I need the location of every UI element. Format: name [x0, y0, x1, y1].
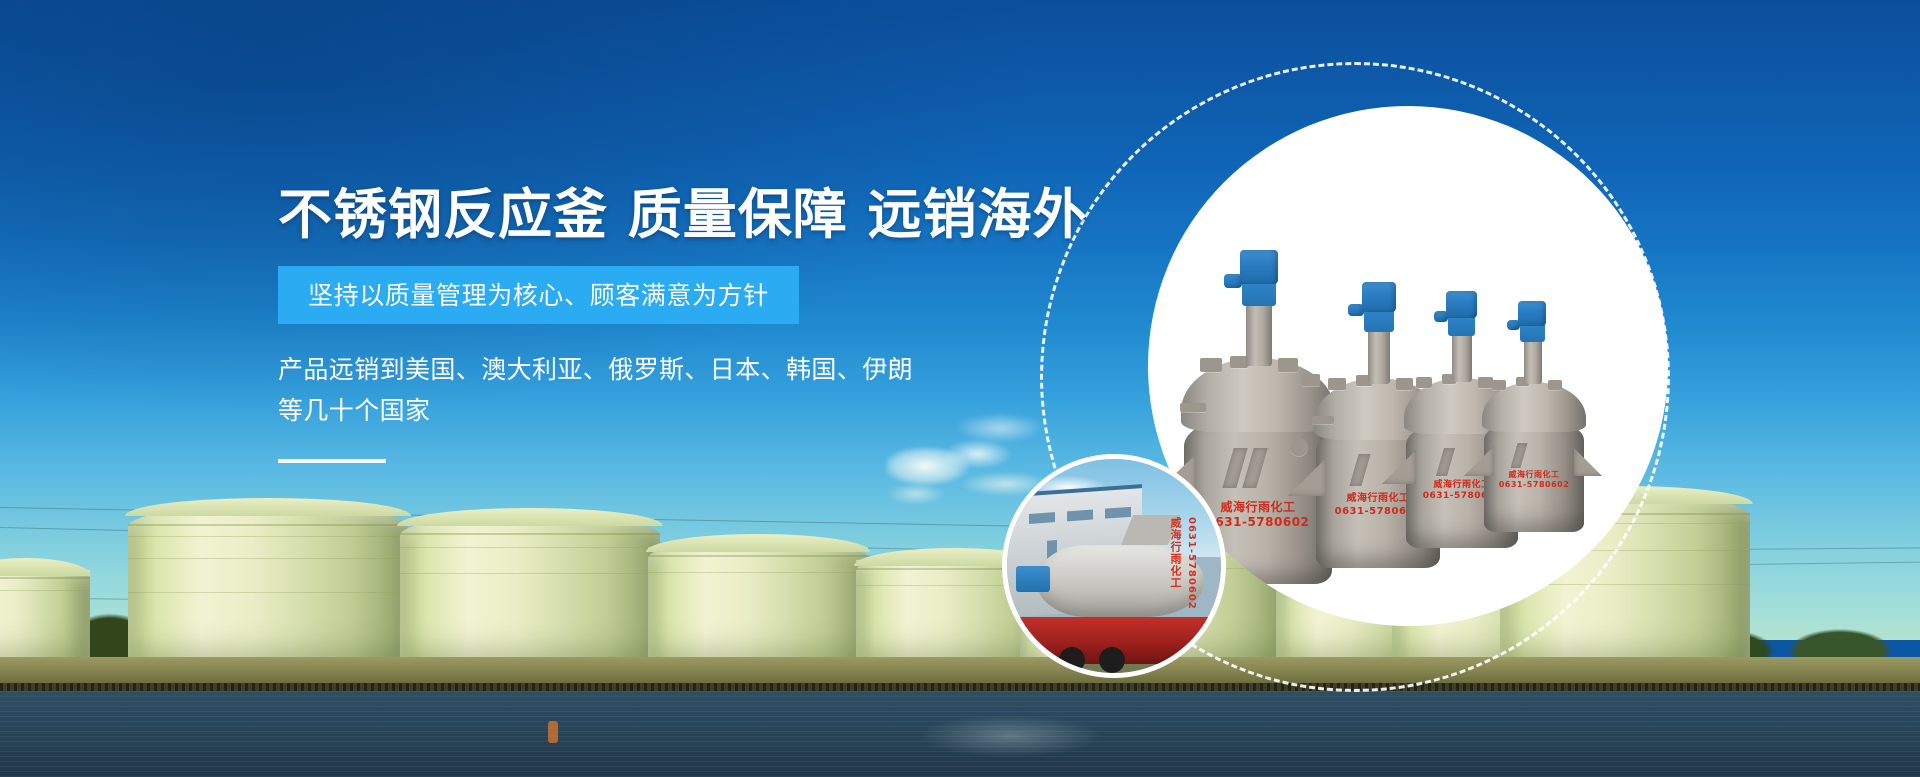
promo-banner: 威海行雨化工 0631-5780602: [0, 0, 1920, 777]
product-image-circle: 威海行雨化工 0631-5780602: [1148, 106, 1668, 626]
tagline-text: 坚持以质量管理为核心、顾客满意为方针: [308, 276, 769, 312]
truck-wheel: [1099, 647, 1125, 673]
tagline-badge: 坚持以质量管理为核心、顾客满意为方针: [278, 266, 799, 324]
storage-tank: [648, 541, 868, 661]
banner-copy: 不锈钢反应釜 质量保障 远销海外 坚持以质量管理为核心、顾客满意为方针 产品远销…: [278, 186, 1038, 463]
vessel-phone-text: 0631-5780602: [1207, 515, 1310, 529]
reactor-vessel: 威海行雨化工 0631-5780602: [1484, 324, 1584, 532]
vessel-brand-text: 威海行雨化工: [1433, 480, 1490, 490]
divider-rule: [278, 459, 386, 463]
vessel-motor: [1016, 566, 1050, 592]
buoy: [548, 721, 558, 743]
storage-tank: [128, 505, 408, 661]
page-title: 不锈钢反应釜 质量保障 远销海外: [278, 186, 1038, 243]
description-line-2: 等几十个国家: [278, 391, 1038, 432]
vessel-brand-text: 威海行雨化工: [1347, 493, 1410, 504]
inset-image-circle: 威海行雨化工 0631-5780602: [1002, 454, 1226, 678]
water-surface: [0, 691, 1920, 777]
inset-vessel-phone-text: 0631-5780602: [1186, 517, 1197, 610]
vessel-brand-text: 威海行雨化工: [1220, 500, 1295, 514]
vessel-phone-text: 0631-5780602: [1499, 480, 1570, 489]
inset-vessel-brand-text: 威海行雨化工: [1167, 517, 1183, 589]
vessel-brand-text: 威海行雨化工: [1509, 470, 1560, 479]
reactor-group-image: 威海行雨化工 0631-5780602: [1148, 106, 1668, 626]
description-text: 产品远销到美国、澳大利亚、俄罗斯、日本、韩国、伊朗 等几十个国家: [278, 350, 1038, 431]
storage-tank: [400, 515, 660, 661]
truck-wheel: [1059, 647, 1085, 673]
storage-tank: [0, 565, 90, 661]
description-line-1: 产品远销到美国、澳大利亚、俄罗斯、日本、韩国、伊朗: [278, 350, 1038, 391]
water-glint: [880, 705, 1140, 767]
